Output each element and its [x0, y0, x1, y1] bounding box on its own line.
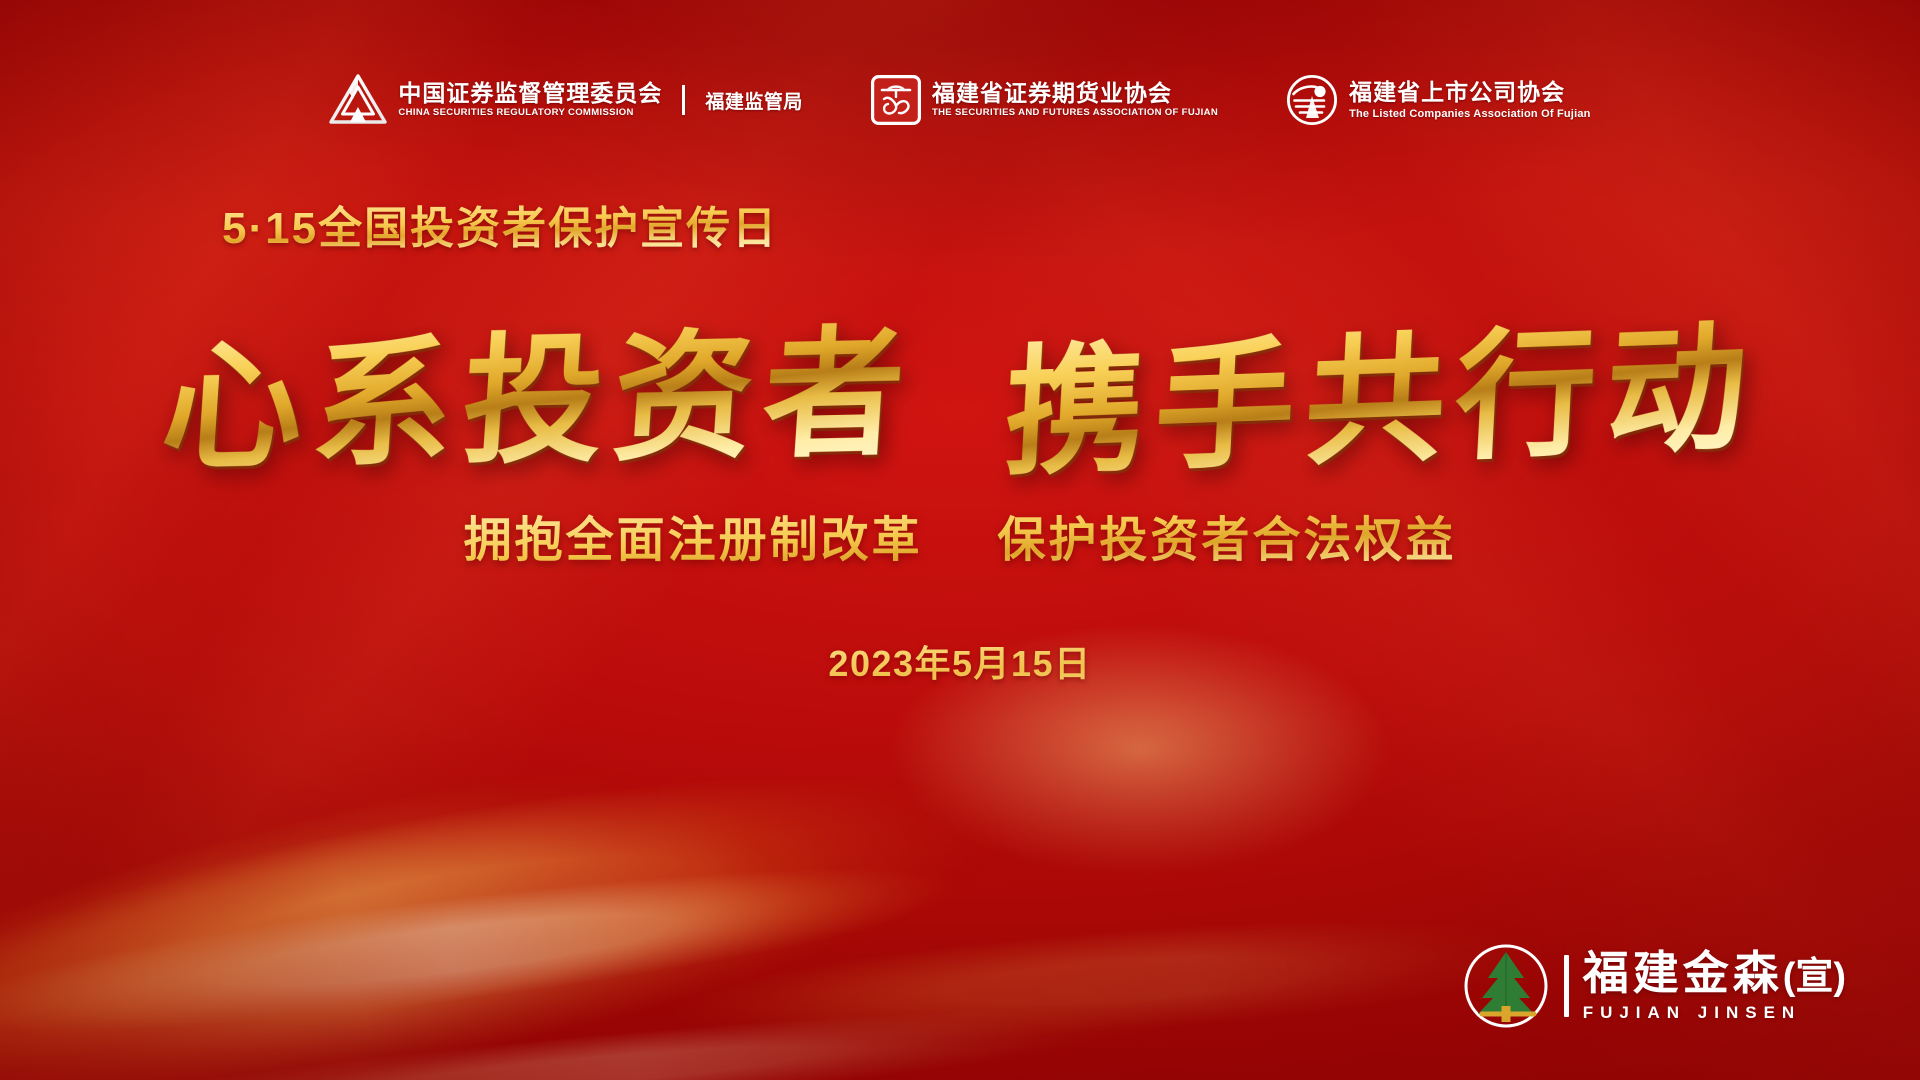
logo-csrc: 中国证券监督管理委员会 CHINA SECURITIES REGULATORY …	[329, 74, 803, 126]
logo-csrc-divider	[682, 85, 685, 115]
event-date: 2023年5月15日	[0, 635, 1920, 687]
headline-part-1: 心系投资者	[157, 280, 922, 498]
headline-part-2: 携手共行动	[1000, 275, 1762, 503]
slogan-right: 保护投资者合法权益	[997, 514, 1456, 567]
campaign-theme-line: 5·15全国投资者保护宣传日	[222, 192, 778, 256]
logo-fujian-securities-text: 福建省证券期货业协会 THE SECURITIES AND FUTURES AS…	[932, 81, 1218, 120]
sponsor-name-en: FUJIAN JINSEN	[1583, 1003, 1846, 1023]
logo-listed-companies-name-cn: 福建省上市公司协会	[1349, 80, 1590, 106]
logo-listed-companies-text: 福建省上市公司协会 The Listed Companies Associati…	[1349, 80, 1590, 120]
slogan-left: 拥抱全面注册制改革	[464, 514, 923, 567]
banner-canvas: 中国证券监督管理委员会 CHINA SECURITIES REGULATORY …	[0, 0, 1920, 1080]
logo-csrc-text: 中国证券监督管理委员会 CHINA SECURITIES REGULATORY …	[398, 81, 662, 120]
fujian-securities-seal-icon	[871, 75, 921, 125]
main-headline: 心系投资者 携手共行动	[0, 288, 1920, 490]
csrc-triangle-emblem-icon	[329, 74, 387, 126]
pine-tree-logo-icon	[1462, 944, 1550, 1028]
sponsor-name-suffix: (宣)	[1783, 958, 1846, 996]
campaign-slogan: 拥抱全面注册制改革 保护投资者合法权益	[0, 500, 1920, 570]
logo-fujian-securities-name-en: THE SECURITIES AND FUTURES ASSOCIATION O…	[932, 108, 1218, 119]
sponsor-name-cn: 福建金森	[1583, 950, 1783, 996]
logo-fujian-securities-association: 福建省证券期货业协会 THE SECURITIES AND FUTURES AS…	[871, 75, 1218, 125]
sponsor-name-row: 福建金森 (宣)	[1583, 950, 1846, 996]
sponsor-logo: 福建金森 (宣) FUJIAN JINSEN	[1462, 944, 1846, 1028]
listed-companies-circle-icon	[1286, 74, 1338, 126]
logo-fujian-securities-name-cn: 福建省证券期货业协会	[932, 81, 1218, 107]
sponsor-text: 福建金森 (宣) FUJIAN JINSEN	[1583, 950, 1846, 1023]
logo-csrc-name-cn: 中国证券监督管理委员会	[398, 81, 662, 107]
logo-csrc-name-en: CHINA SECURITIES REGULATORY COMMISSION	[398, 108, 662, 119]
logo-csrc-bureau-label: 福建监管局	[705, 87, 803, 114]
logo-listed-companies-name-en: The Listed Companies Association Of Fuji…	[1349, 108, 1590, 121]
sponsor-divider	[1564, 955, 1569, 1017]
logo-listed-companies-association: 福建省上市公司协会 The Listed Companies Associati…	[1286, 74, 1590, 126]
organization-logo-bar: 中国证券监督管理委员会 CHINA SECURITIES REGULATORY …	[0, 74, 1920, 126]
